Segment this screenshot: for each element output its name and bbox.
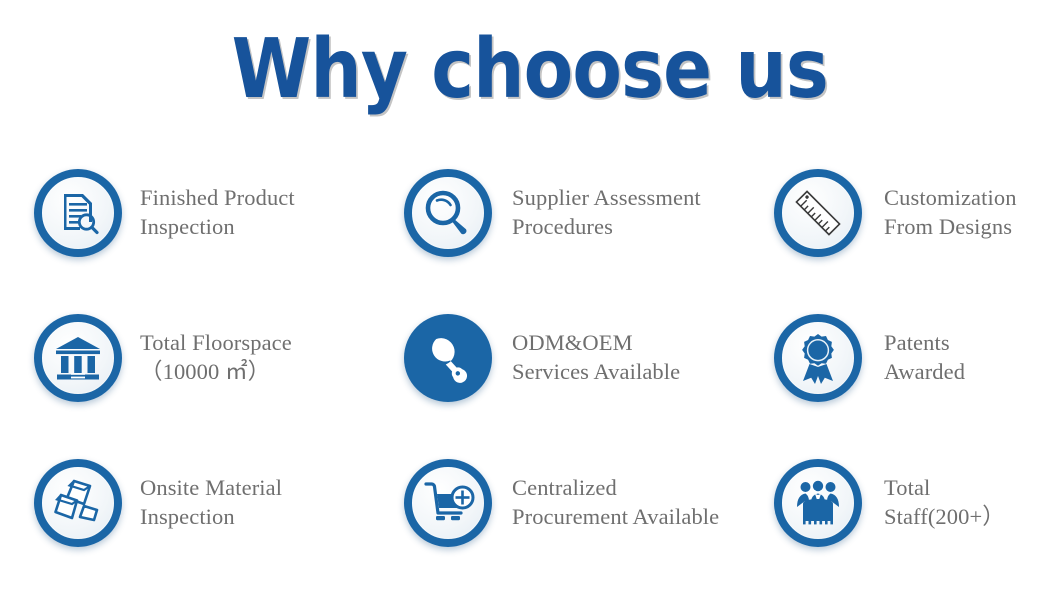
wrench-icon [404,314,492,402]
document-magnifier-icon [34,169,122,257]
factory-building-icon [34,314,122,402]
feature-label: Finished Product Inspection [140,184,295,241]
magnifying-glass-icon [404,169,492,257]
metal-ingots-icon [34,459,122,547]
ruler-icon [774,169,862,257]
page-title: Why choose us [232,29,828,111]
feature-item-total-staff: Total Staff(200+） [774,430,1060,575]
feature-label: Onsite Material Inspection [140,474,282,531]
feature-grid: Finished Product Inspection Supplier Ass… [0,140,1060,596]
feature-label: Total Staff(200+） [884,474,1005,531]
title-bar: Why choose us [0,0,1060,132]
feature-label: Supplier Assessment Procedures [512,184,701,241]
feature-item-customization-from-designs: Customization From Designs [774,140,1060,285]
feature-item-onsite-material-inspection: Onsite Material Inspection [34,430,404,575]
feature-label: Centralized Procurement Available [512,474,719,531]
feature-item-centralized-procurement: Centralized Procurement Available [404,430,774,575]
feature-item-patents-awarded: Patents Awarded [774,285,1060,430]
feature-item-total-floorspace: Total Floorspace （10000 ㎡） [34,285,404,430]
feature-label: Customization From Designs [884,184,1017,241]
feature-label: Total Floorspace （10000 ㎡） [140,329,292,386]
feature-item-supplier-assessment-procedures: Supplier Assessment Procedures [404,140,774,285]
cart-plus-icon [404,459,492,547]
feature-label: ODM&OEM Services Available [512,329,680,386]
feature-label: Patents Awarded [884,329,965,386]
feature-item-finished-product-inspection: Finished Product Inspection [34,140,404,285]
staff-group-icon [774,459,862,547]
award-ribbon-icon [774,314,862,402]
feature-item-odm-oem-services: ODM&OEM Services Available [404,285,774,430]
